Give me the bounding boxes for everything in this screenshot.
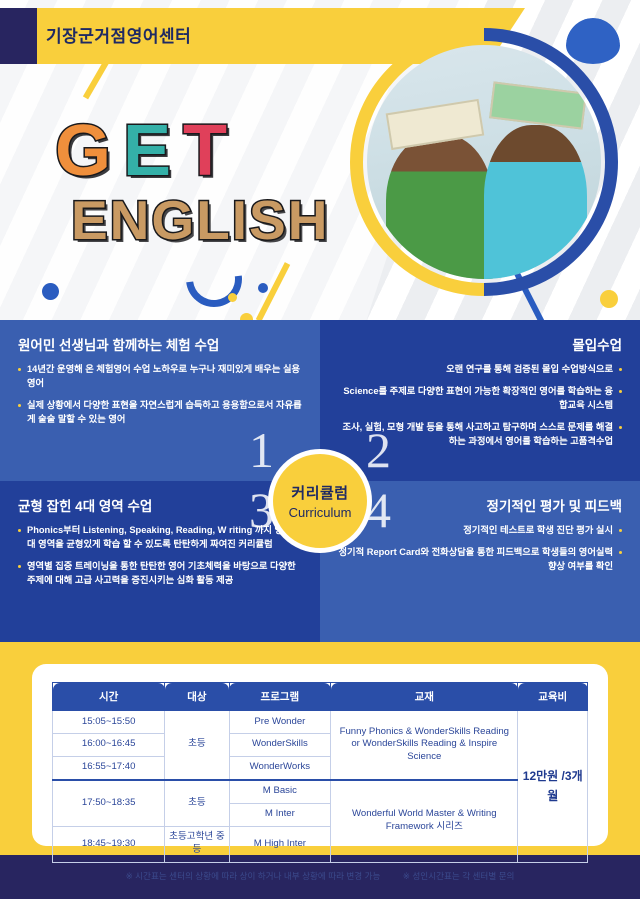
curriculum-section: 원어민 선생님과 함께하는 체험 수업 14년간 운영해 온 체험영어 수업 노… [0,320,640,642]
quadrant-1-point-1: 14년간 운영해 온 체험영어 수업 노하우로 누구나 재미있게 배우는 실용영… [18,363,302,391]
cell-target: 초등 [165,711,229,780]
curriculum-label-ko: 커리큘럼 [291,482,348,503]
table-row: 17:50~18:35 초등 M Basic Wonderful World M… [53,780,588,803]
quadrant-3-point-2: 영역별 집중 트레이닝을 통한 탄탄한 영어 기초체력을 바탕으로 다양한 주제… [18,560,302,588]
schedule-table: 시간 대상 프로그램 교재 교육비 15:05~15:50 초등 Pre Won… [52,682,588,863]
dot-yellow-medium [240,313,253,320]
logo-get-row: G E T [55,118,329,184]
hero-section: 기장군거점영어센터 G E T ENGLISH [0,0,640,320]
quadrant-1-title: 원어민 선생님과 함께하는 체험 수업 [18,334,302,354]
header-banner-cap [0,8,37,64]
cell-program: Pre Wonder [229,711,331,734]
header-target: 대상 [165,683,229,711]
logo-english-word: ENGLISH [71,188,329,252]
cell-time: 16:55~17:40 [53,756,165,779]
cell-time: 16:00~16:45 [53,733,165,756]
header-fee: 교육비 [518,683,588,711]
cell-target: 초등고학년 중등 [165,826,229,862]
dot-blue-large [42,283,59,300]
quadrant-2-point-1: 오랜 연구를 통해 검증된 몰입 수업방식으로 [338,363,622,377]
quadrant-1-number: 1 [249,425,274,475]
cell-program: M Inter [229,803,331,826]
quadrant-1-body: 14년간 운영해 온 체험영어 수업 노하우로 누구나 재미있게 배우는 실용영… [18,363,302,427]
schedule-notes: ※ 시간표는 센터의 상황에 따라 상이 하거나 내부 상황에 따라 변경 가능… [52,870,588,882]
cell-target: 초등 [165,780,229,826]
schedule-section: 시간 대상 프로그램 교재 교육비 15:05~15:50 초등 Pre Won… [0,642,640,855]
table-header-row: 시간 대상 프로그램 교재 교육비 [53,683,588,711]
cell-fee: 12만원 /3개월 [518,711,588,863]
dot-blue-small [258,283,268,293]
center-name: 기장군거점영어센터 [46,22,191,47]
hero-photo [350,28,618,296]
note-2: ※ 성인시간표는 각 센터별 문의 [403,871,515,881]
get-english-logo: G E T ENGLISH [55,118,329,252]
logo-letter-g: G [55,118,113,184]
header-textbook: 교재 [331,683,518,711]
quadrant-2-point-2: Science를 주제로 다양한 표현이 가능한 확장적인 영어를 학습하는 융… [338,385,622,413]
cell-program: WonderWorks [229,756,331,779]
note-1: ※ 시간표는 센터의 상황에 따라 상이 하거나 내부 상황에 따라 변경 가능 [126,871,381,881]
cell-time: 15:05~15:50 [53,711,165,734]
header-program: 프로그램 [229,683,331,711]
curriculum-center-badge: 커리큘럼 Curriculum [268,449,372,553]
poster: 기장군거점영어센터 G E T ENGLISH [0,0,640,899]
quadrant-4-point-2: 정기적 Report Card와 전화상담을 통한 피드백으로 학생들의 영어실… [338,546,622,574]
quadrant-2-title: 몰입수업 [338,334,622,354]
cell-textbook: Funny Phonics & WonderSkills Reading or … [331,711,518,780]
curriculum-quadrant-1: 원어민 선생님과 함께하는 체험 수업 14년간 운영해 온 체험영어 수업 노… [0,320,320,481]
schedule-card: 시간 대상 프로그램 교재 교육비 15:05~15:50 초등 Pre Won… [32,664,608,846]
cell-textbook: Wonderful World Master & Writing Framewo… [331,780,518,862]
cell-time: 18:45~19:30 [53,826,165,862]
cell-program: M High Inter [229,826,331,862]
logo-letter-e: E [123,118,173,184]
cell-program: WonderSkills [229,733,331,756]
logo-letter-t: T [183,118,229,184]
quadrant-2-number: 2 [366,425,391,475]
header-time: 시간 [53,683,165,711]
dot-yellow-small [228,293,237,302]
table-row: 15:05~15:50 초등 Pre Wonder Funny Phonics … [53,711,588,734]
curriculum-label-en: Curriculum [289,505,352,520]
cell-program: M Basic [229,780,331,803]
cell-time: 17:50~18:35 [53,780,165,826]
curriculum-quadrant-2: 몰입수업 오랜 연구를 통해 검증된 몰입 수업방식으로 Science를 주제… [320,320,640,481]
